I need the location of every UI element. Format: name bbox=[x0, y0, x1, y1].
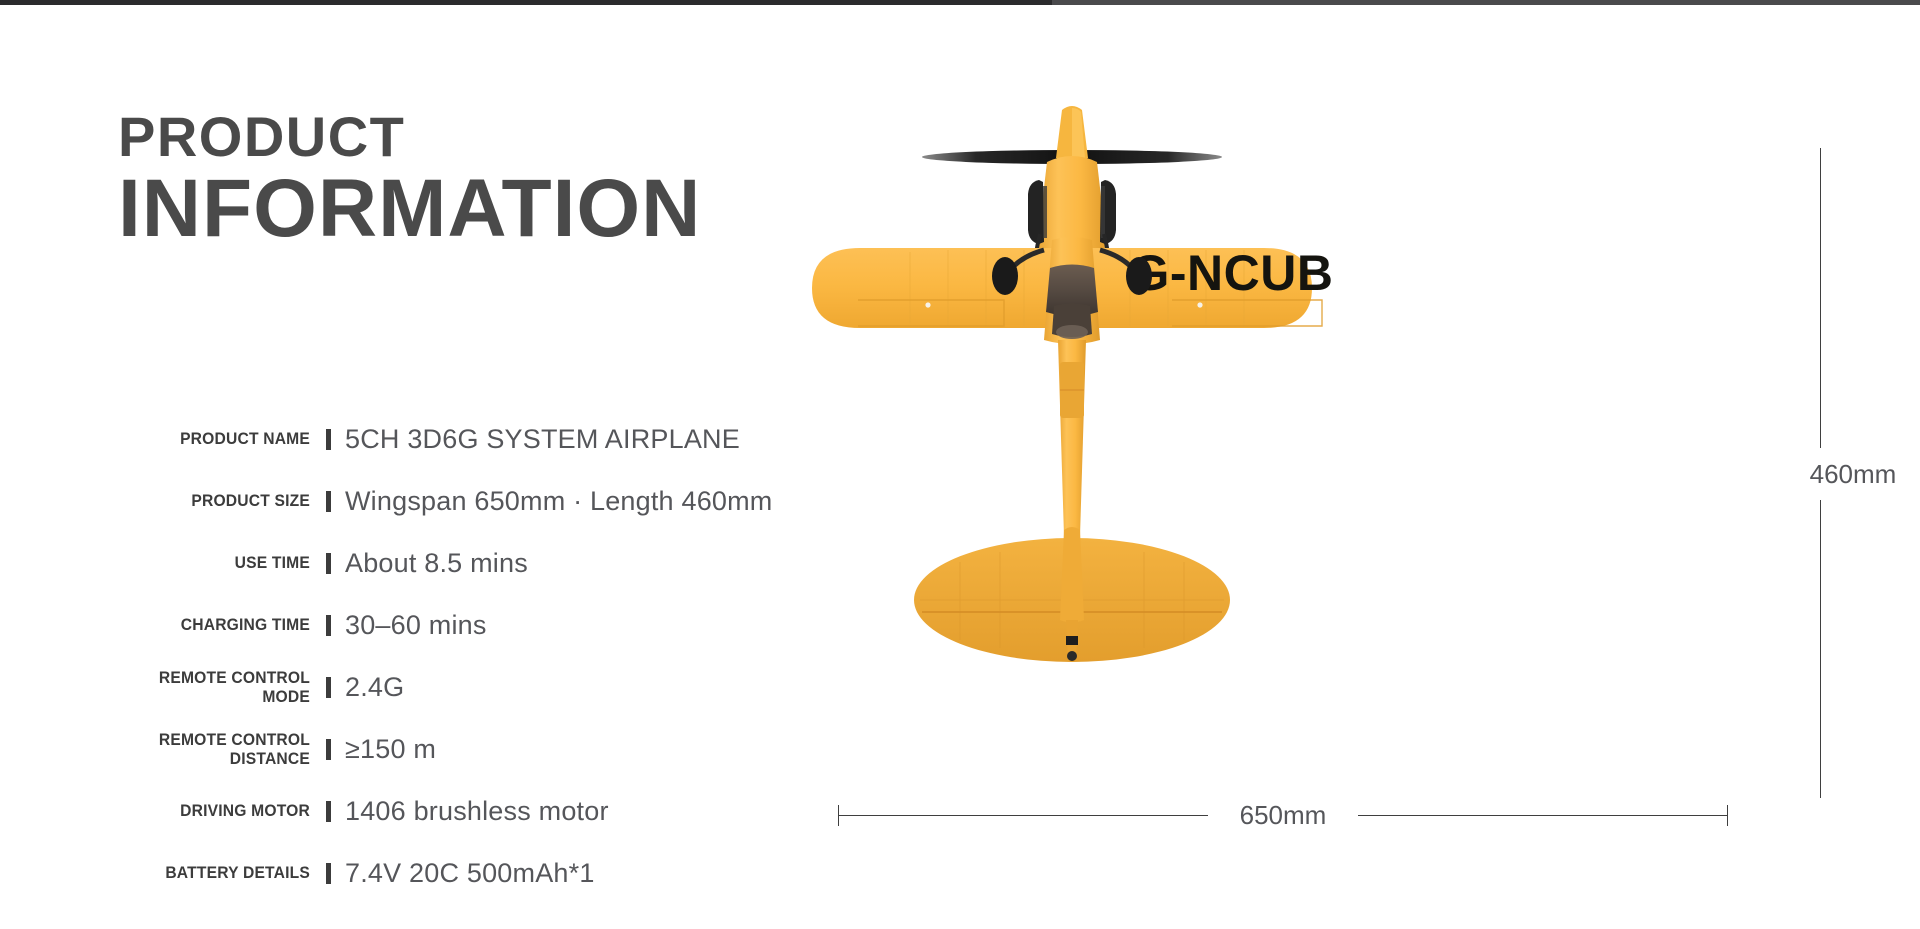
airplane-illustration: G-NCUB bbox=[800, 100, 1600, 800]
spec-value: ≥150 m bbox=[345, 734, 436, 765]
spec-row-remote-control-distance: REMOTE CONTROL DISTANCE ≥150 m bbox=[0, 718, 760, 780]
page-title: PRODUCT INFORMATION bbox=[118, 108, 701, 251]
dimension-height-line-bottom bbox=[1820, 500, 1821, 798]
registration-marking: G-NCUB bbox=[1131, 245, 1334, 301]
dimension-width: 650mm bbox=[838, 790, 1728, 840]
spec-value: 30–60 mins bbox=[345, 610, 487, 641]
spec-row-remote-control-mode: REMOTE CONTROL MODE 2.4G bbox=[0, 656, 760, 718]
wing-fastener-right bbox=[1197, 302, 1202, 307]
dimension-width-line-left bbox=[838, 815, 1208, 816]
vertical-fin bbox=[1060, 527, 1084, 623]
dimension-height-label: 460mm bbox=[1788, 446, 1918, 502]
spec-label: PRODUCT SIZE bbox=[25, 491, 310, 510]
spec-label: USE TIME bbox=[25, 553, 310, 572]
spec-value: About 8.5 mins bbox=[345, 548, 528, 579]
spec-value: 2.4G bbox=[345, 672, 404, 703]
spec-row-charging-time: CHARGING TIME 30–60 mins bbox=[0, 594, 760, 656]
spec-separator-bar bbox=[326, 615, 331, 636]
spec-row-product-name: PRODUCT NAME 5CH 3D6G SYSTEM AIRPLANE bbox=[0, 408, 760, 470]
spec-separator-bar bbox=[326, 801, 331, 822]
spec-label: DRIVING MOTOR bbox=[25, 801, 310, 820]
product-image-airplane: G-NCUB bbox=[800, 100, 1600, 800]
spec-row-use-time: USE TIME About 8.5 mins bbox=[0, 532, 760, 594]
spec-separator-bar bbox=[326, 739, 331, 760]
spinner bbox=[1056, 106, 1088, 162]
spec-label: REMOTE CONTROL DISTANCE bbox=[25, 730, 310, 768]
tail-hardware bbox=[1066, 636, 1078, 645]
wheel-right bbox=[1126, 257, 1152, 295]
dimension-width-label: 650mm bbox=[1208, 790, 1358, 840]
dimension-height-line-top bbox=[1820, 148, 1821, 448]
spec-value: 5CH 3D6G SYSTEM AIRPLANE bbox=[345, 424, 740, 455]
dimension-height: 460mm bbox=[1806, 148, 1920, 798]
dimension-width-line-right bbox=[1358, 815, 1728, 816]
spec-separator-bar bbox=[326, 863, 331, 884]
spec-label: REMOTE CONTROL MODE bbox=[25, 668, 310, 706]
fuselage bbox=[1044, 237, 1100, 536]
spec-separator-bar bbox=[326, 491, 331, 512]
wing-fastener-left bbox=[925, 302, 930, 307]
spec-value: 1406 brushless motor bbox=[345, 796, 609, 827]
top-edge-strip-left bbox=[0, 0, 1052, 5]
spec-label: CHARGING TIME bbox=[25, 615, 310, 634]
spec-row-battery-details: BATTERY DETAILS 7.4V 20C 500mAh*1 bbox=[0, 842, 760, 904]
page-title-line-2: INFORMATION bbox=[118, 167, 701, 251]
top-edge-strip-right bbox=[1052, 0, 1920, 5]
spec-value: Wingspan 650mm · Length 460mm bbox=[345, 486, 773, 517]
spec-row-driving-motor: DRIVING MOTOR 1406 brushless motor bbox=[0, 780, 760, 842]
spec-row-product-size: PRODUCT SIZE Wingspan 650mm · Length 460… bbox=[0, 470, 760, 532]
wheel-left bbox=[992, 257, 1018, 295]
spec-separator-bar bbox=[326, 677, 331, 698]
spec-label: BATTERY DETAILS bbox=[25, 863, 310, 882]
tail-wheel bbox=[1067, 651, 1077, 661]
page-title-line-1: PRODUCT bbox=[118, 108, 701, 165]
product-information-page: PRODUCT INFORMATION PRODUCT NAME 5CH 3D6… bbox=[0, 0, 1920, 929]
tail-assembly bbox=[914, 527, 1230, 662]
specifications-table: PRODUCT NAME 5CH 3D6G SYSTEM AIRPLANE PR… bbox=[0, 408, 760, 904]
spec-label: PRODUCT NAME bbox=[25, 429, 310, 448]
spec-separator-bar bbox=[326, 553, 331, 574]
cowl-bump-left bbox=[1028, 180, 1044, 244]
spec-value: 7.4V 20C 500mAh*1 bbox=[345, 858, 595, 889]
spec-separator-bar bbox=[326, 429, 331, 450]
